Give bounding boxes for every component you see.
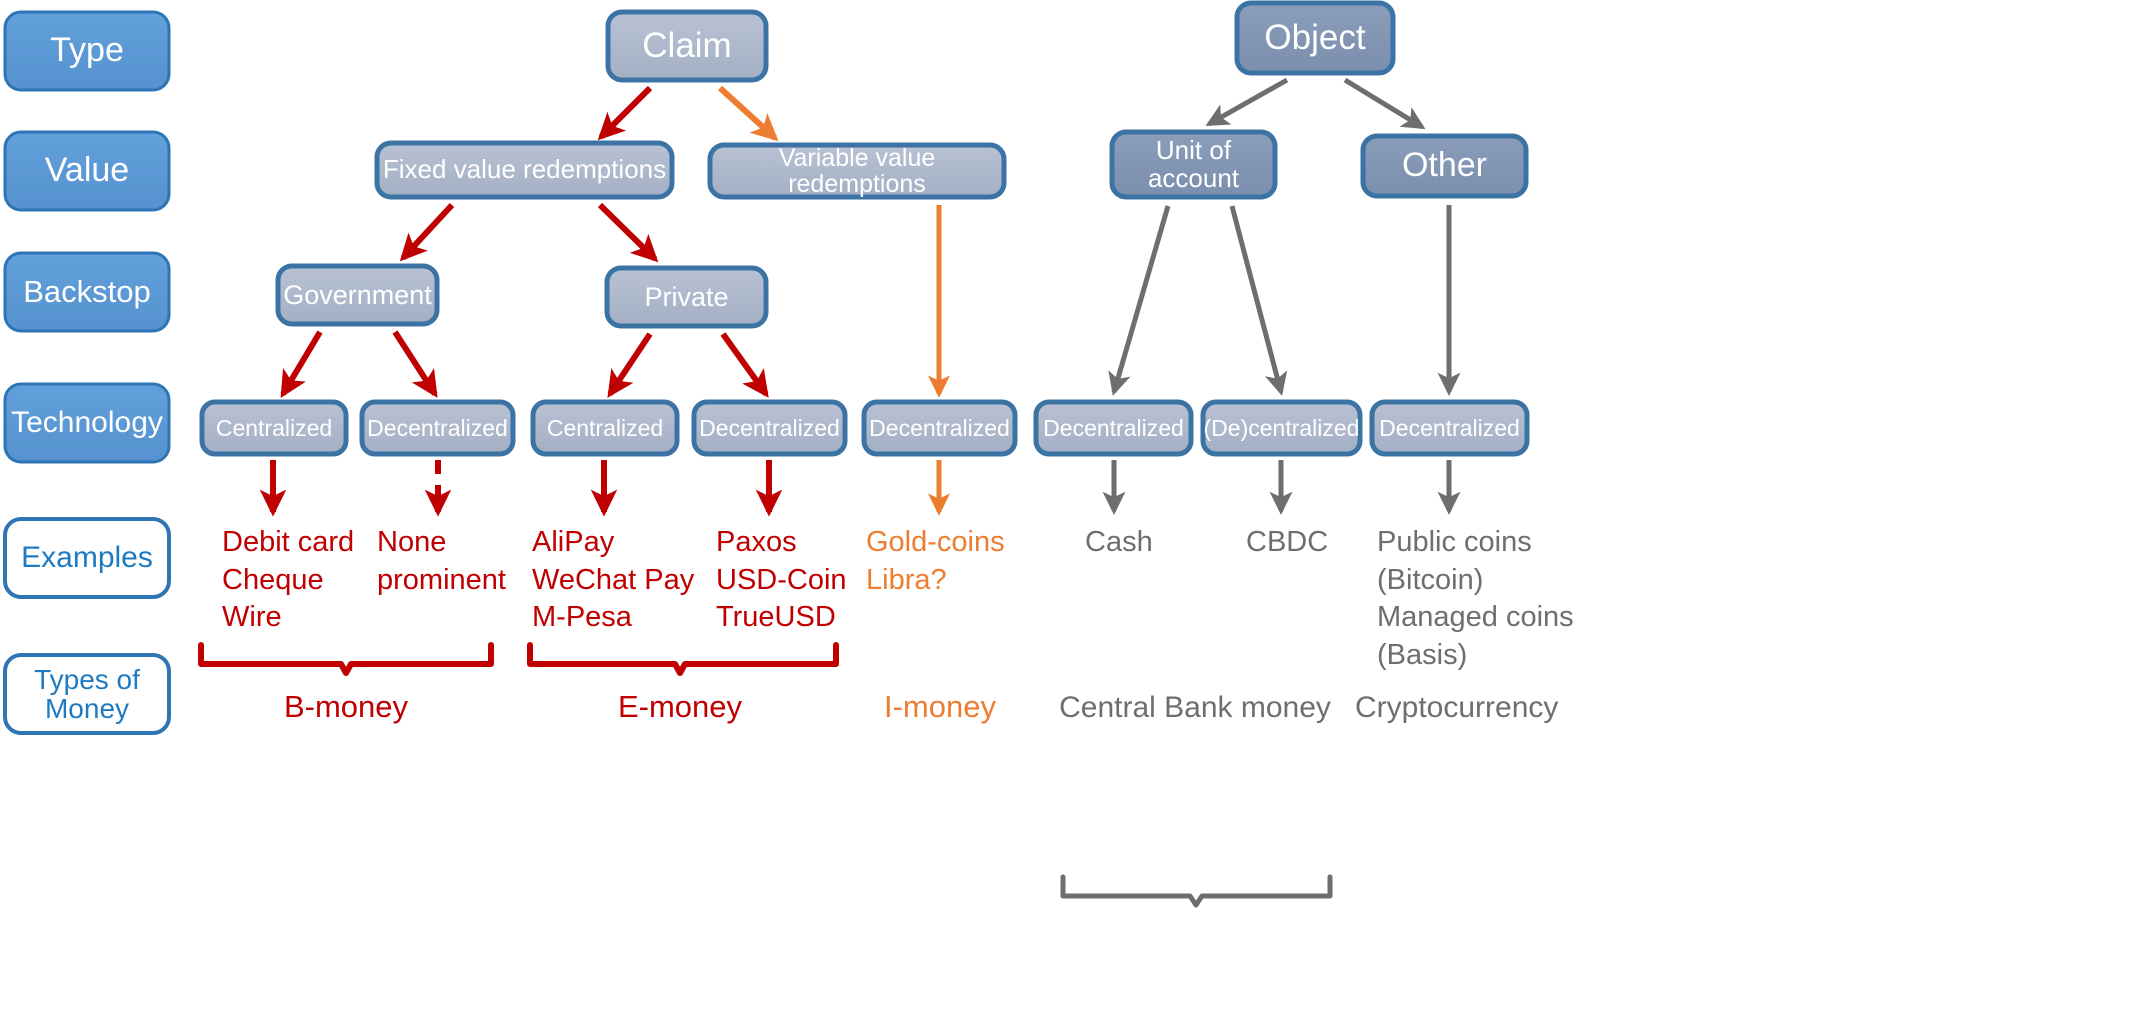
node-box-other[interactable] bbox=[1363, 136, 1526, 196]
money-type-cb-money: Central Bank money bbox=[1050, 691, 1340, 725]
node-box-tech-unit-1[interactable] bbox=[1036, 402, 1191, 454]
node-box-unit[interactable] bbox=[1112, 132, 1275, 197]
edge-fixed-government bbox=[403, 205, 452, 258]
example-paxos: Paxos USD-Coin TrueUSD bbox=[716, 524, 847, 637]
diagram-canvas: Type Value Backstop Technology Examples … bbox=[0, 0, 2145, 1033]
braces bbox=[201, 645, 1330, 905]
row-label-value: Value bbox=[5, 132, 169, 210]
edge-object-other bbox=[1345, 80, 1422, 127]
node-box-private[interactable] bbox=[607, 268, 766, 326]
money-type-i-money: I-money bbox=[855, 689, 1025, 725]
node-box-tech-gov-decent[interactable] bbox=[362, 402, 513, 454]
row-label-examples: Examples bbox=[5, 519, 169, 597]
node-box-variable[interactable] bbox=[710, 145, 1004, 197]
row-label-type: Type bbox=[5, 12, 169, 90]
edge-fixed-private bbox=[600, 205, 655, 259]
row-label-technology: Technology bbox=[5, 384, 169, 462]
node-box-government[interactable] bbox=[278, 266, 437, 324]
edge-object-unit bbox=[1209, 80, 1287, 124]
node-box-tech-gov-cent[interactable] bbox=[202, 402, 346, 454]
brace-b-money bbox=[201, 645, 491, 673]
node-box-fixed[interactable] bbox=[377, 143, 672, 197]
edge-claim-fixed bbox=[601, 88, 650, 137]
edge-private-centralized bbox=[610, 334, 650, 394]
node-box-tech-other[interactable] bbox=[1372, 402, 1527, 454]
example-alipay: AliPay WeChat Pay M-Pesa bbox=[532, 524, 694, 637]
money-type-b-money: B-money bbox=[246, 689, 446, 725]
example-debit-card: Debit card Cheque Wire bbox=[222, 524, 354, 637]
edge-unit-decentralized-2 bbox=[1232, 206, 1281, 392]
edge-unit-decentralized bbox=[1114, 206, 1168, 392]
example-cash: Cash bbox=[1085, 524, 1153, 562]
node-box-tech-pri-decent[interactable] bbox=[694, 402, 845, 454]
node-box-claim[interactable] bbox=[608, 12, 766, 80]
edge-government-centralized bbox=[283, 332, 320, 394]
edge-private-decentralized bbox=[723, 334, 766, 394]
node-box-tech-pri-cent[interactable] bbox=[533, 402, 677, 454]
row-label-types-money: Types of Money bbox=[5, 655, 169, 733]
brace-e-money bbox=[530, 645, 836, 673]
money-type-e-money: E-money bbox=[580, 689, 780, 725]
node-boxes bbox=[202, 3, 1527, 454]
example-public-coins: Public coins (Bitcoin) Managed coins (Ba… bbox=[1377, 524, 1574, 675]
edge-claim-variable bbox=[720, 88, 775, 138]
row-label-backstop: Backstop bbox=[5, 253, 169, 331]
example-cbdc: CBDC bbox=[1246, 524, 1328, 562]
edge-government-decentralized bbox=[395, 332, 435, 394]
money-type-cryptocurrency: Cryptocurrency bbox=[1355, 691, 1605, 725]
row-label-boxes bbox=[5, 12, 169, 733]
diagram-svg bbox=[0, 0, 2145, 1033]
node-box-tech-unit-2[interactable] bbox=[1203, 402, 1360, 454]
node-box-object[interactable] bbox=[1237, 3, 1393, 73]
example-none-prominent: None prominent bbox=[377, 524, 506, 599]
node-box-tech-var-decent[interactable] bbox=[864, 402, 1015, 454]
brace-cb-money bbox=[1063, 877, 1330, 905]
example-gold-coins: Gold-coins Libra? bbox=[866, 524, 1005, 599]
